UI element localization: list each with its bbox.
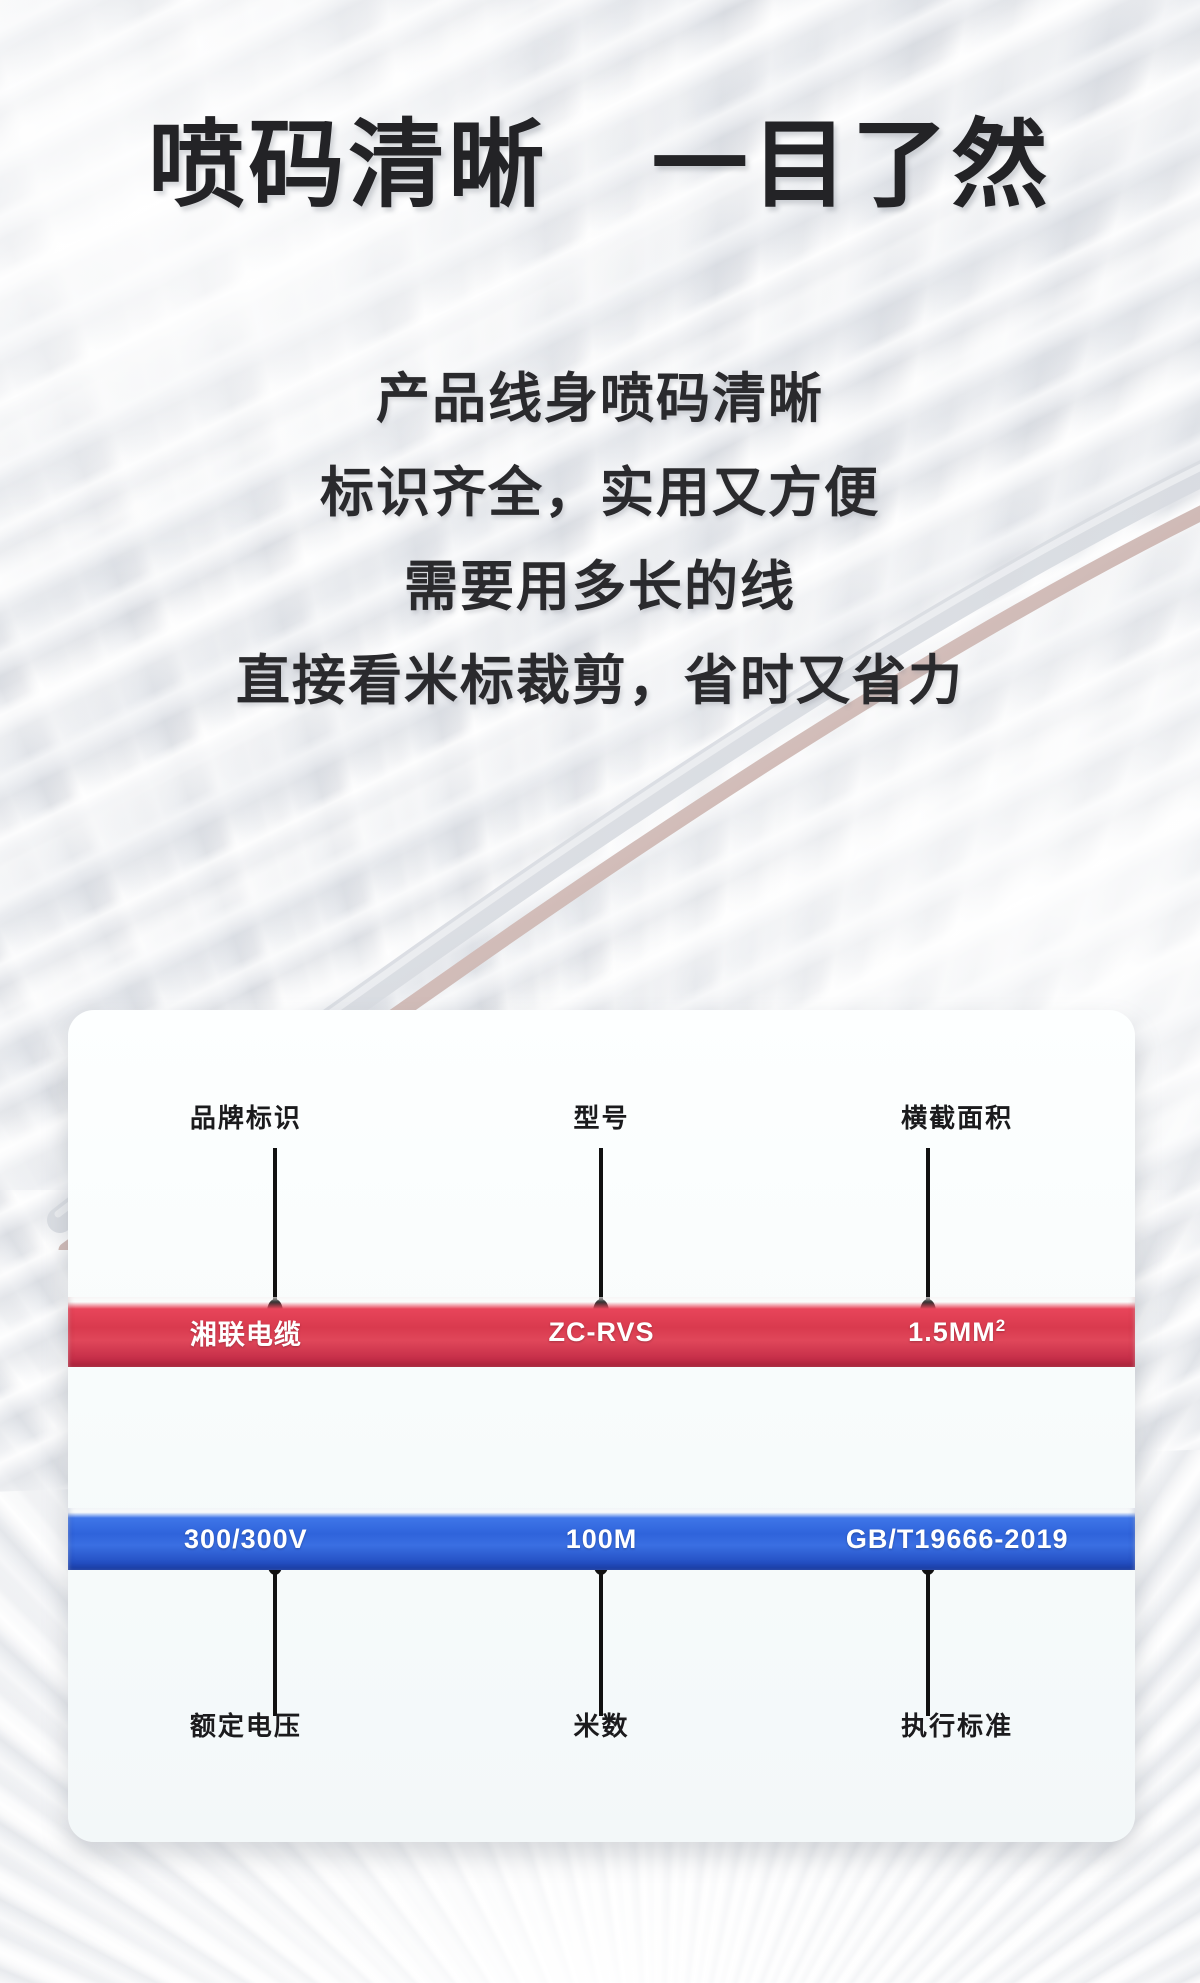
label-cell-cross-section: 横截面积 — [779, 1098, 1135, 1138]
red-band-cell-brand: 湘联电缆 — [68, 1313, 424, 1352]
promo-page: 喷码清晰 一目了然 产品线身喷码清晰 标识齐全，实用又方便 需要用多长的线 直接… — [0, 0, 1200, 1983]
label-cell-model: 型号 — [424, 1098, 780, 1138]
red-cable-band: 湘联电缆 ZC-RVS 1.5MM2 — [68, 1297, 1135, 1367]
blue-band-cell-length: 100M — [424, 1524, 780, 1555]
blue-band-cell-voltage: 300/300V — [68, 1524, 424, 1555]
blue-band-voltage-value: 300/300V — [184, 1524, 308, 1554]
label-cell-rated-voltage: 额定电压 — [68, 1706, 424, 1746]
red-band-brand-value: 湘联电缆 — [190, 1320, 302, 1350]
label-brand-mark: 品牌标识 — [190, 1103, 302, 1133]
red-band-cell-model: ZC-RVS — [424, 1317, 780, 1348]
blue-cable-band: 300/300V 100M GB/T19666-2019 — [68, 1508, 1135, 1570]
label-cross-section: 横截面积 — [901, 1103, 1013, 1133]
label-rated-voltage: 额定电压 — [190, 1711, 302, 1741]
label-cell-brand: 品牌标识 — [68, 1098, 424, 1138]
subcopy-line-2: 标识齐全，实用又方便 — [0, 446, 1200, 540]
top-label-row: 品牌标识 型号 横截面积 — [68, 1098, 1135, 1138]
label-standard: 执行标准 — [901, 1711, 1013, 1741]
subcopy-line-1: 产品线身喷码清晰 — [0, 352, 1200, 446]
red-band-cross-section-number: 1.5MM — [908, 1317, 996, 1347]
bottom-label-row: 额定电压 米数 执行标准 — [68, 1706, 1135, 1746]
blue-band-standard-value: GB/T19666-2019 — [846, 1524, 1069, 1554]
label-meter-count: 米数 — [574, 1711, 630, 1741]
label-cell-meter-count: 米数 — [424, 1706, 780, 1746]
label-model: 型号 — [574, 1103, 630, 1133]
red-band-cross-section-exponent: 2 — [996, 1316, 1006, 1335]
headline-part-2: 一目了然 — [652, 112, 1052, 219]
subcopy-line-4: 直接看米标裁剪，省时又省力 — [0, 634, 1200, 728]
red-band-cell-cross-section: 1.5MM2 — [779, 1317, 1135, 1348]
red-band-cross-section-value: 1.5MM2 — [908, 1317, 1006, 1347]
subcopy-block: 产品线身喷码清晰 标识齐全，实用又方便 需要用多长的线 直接看米标裁剪，省时又省… — [0, 352, 1200, 728]
blue-band-length-value: 100M — [566, 1524, 638, 1554]
page-title: 喷码清晰 一目了然 — [0, 112, 1200, 220]
subcopy-line-3: 需要用多长的线 — [0, 540, 1200, 634]
red-band-model-value: ZC-RVS — [549, 1317, 655, 1347]
cable-marking-diagram-card: 品牌标识 型号 横截面积 湘联电缆 ZC-RVS 1.5MM2 300/ — [68, 1010, 1135, 1842]
label-cell-standard: 执行标准 — [779, 1706, 1135, 1746]
blue-band-cell-standard: GB/T19666-2019 — [779, 1524, 1135, 1555]
headline-part-1: 喷码清晰 — [148, 112, 548, 219]
